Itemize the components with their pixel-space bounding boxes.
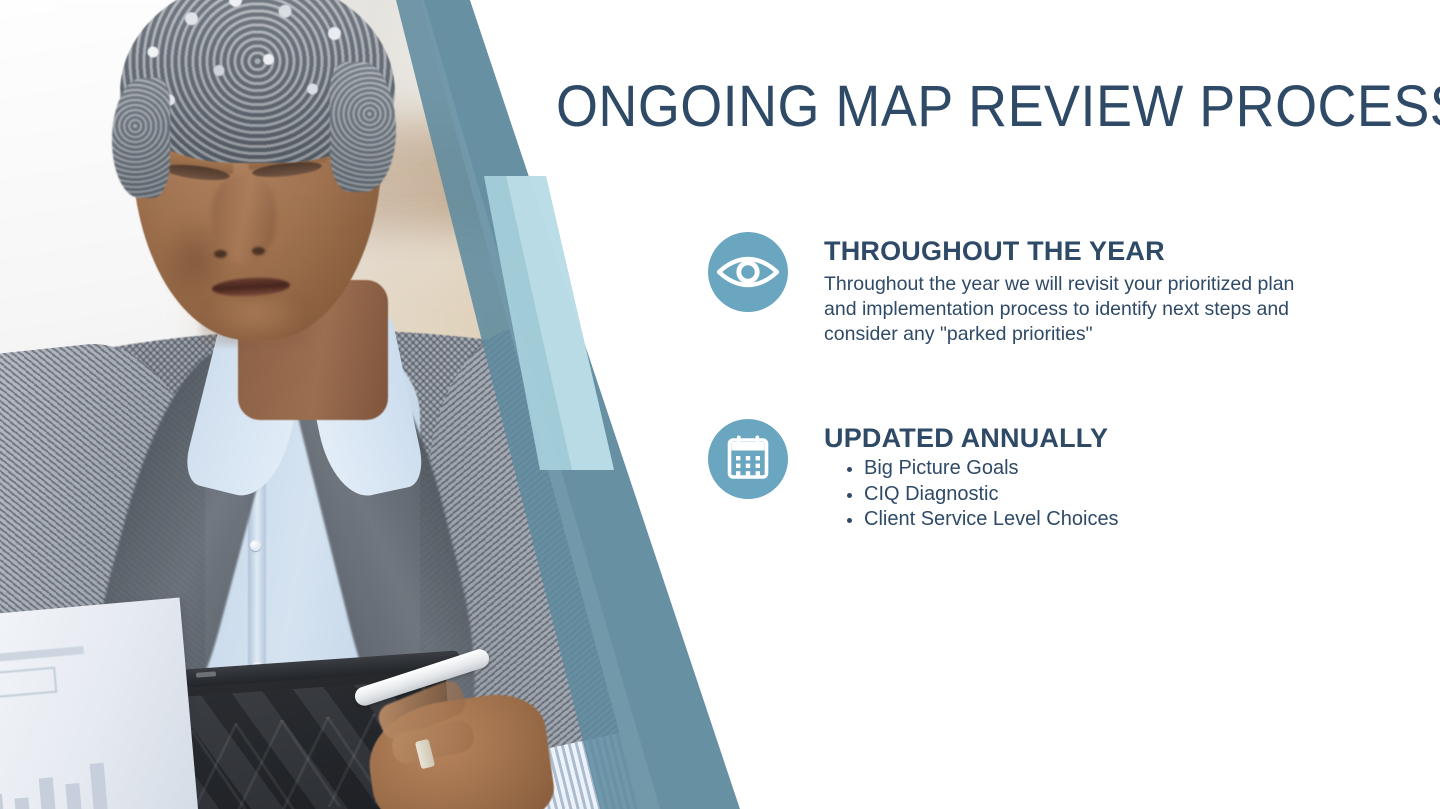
calendar-icon (708, 419, 788, 499)
section-throughout-the-year: THROUGHOUT THE YEAR Throughout the year … (708, 232, 1348, 347)
page-title: ONGOING MAP REVIEW PROCESS (556, 76, 1328, 138)
section-updated-annually: UPDATED ANNUALLY Big Picture Goals CIQ D… (708, 419, 1348, 533)
section-heading: UPDATED ANNUALLY (824, 423, 1119, 453)
section-body: UPDATED ANNUALLY Big Picture Goals CIQ D… (824, 419, 1119, 533)
section-bullet-list: Big Picture Goals CIQ Diagnostic Client … (864, 456, 1119, 532)
section-paragraph: Throughout the year we will revisit your… (824, 272, 1324, 347)
list-item: Big Picture Goals (864, 456, 1119, 481)
eye-icon (708, 232, 788, 312)
list-item: Client Service Level Choices (864, 507, 1119, 532)
list-item: CIQ Diagnostic (864, 482, 1119, 507)
section-heading: THROUGHOUT THE YEAR (824, 236, 1324, 266)
slide: ONGOING MAP REVIEW PROCESS THROUGHOUT TH… (0, 0, 1440, 809)
section-body: THROUGHOUT THE YEAR Throughout the year … (824, 232, 1324, 347)
content-blocks: THROUGHOUT THE YEAR Throughout the year … (708, 232, 1348, 533)
